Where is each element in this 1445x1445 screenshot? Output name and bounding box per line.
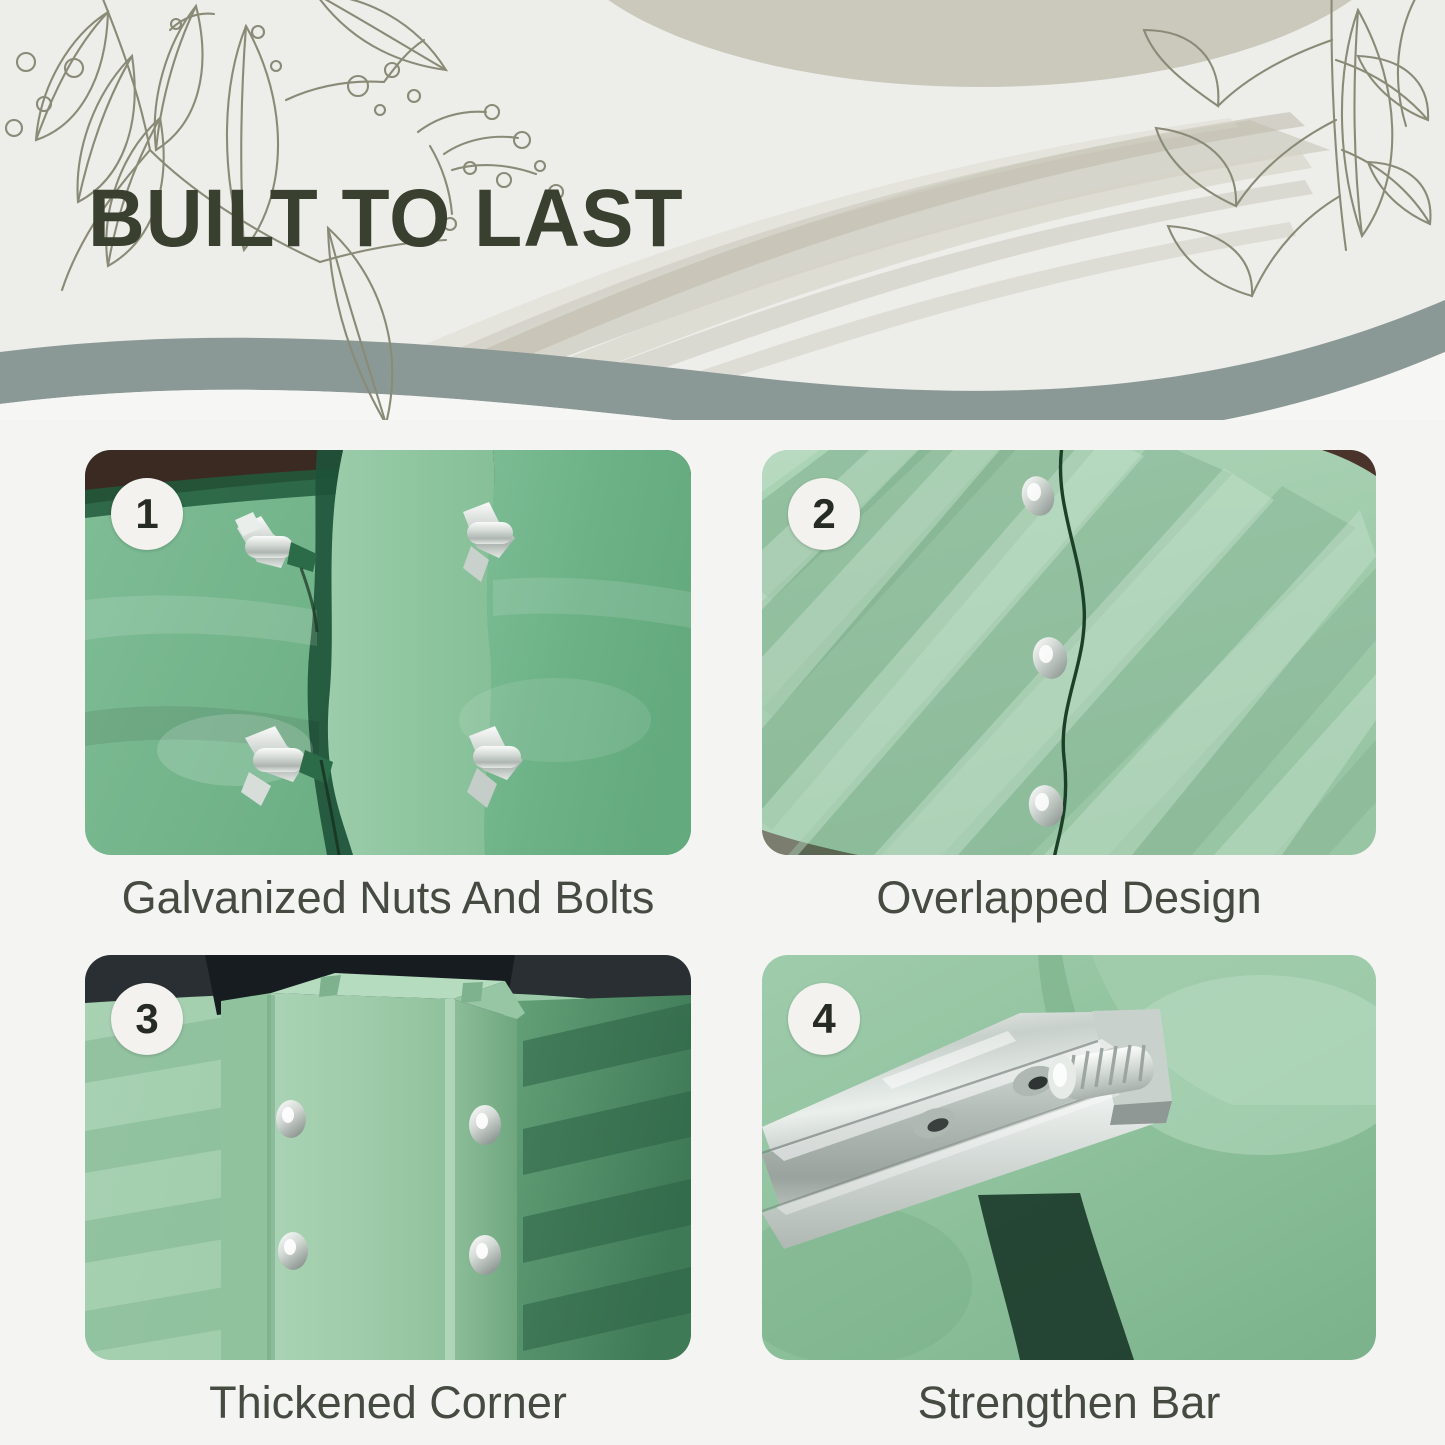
- panel-2-image: 2: [762, 450, 1376, 855]
- rivet-left-upper: [276, 1100, 306, 1138]
- panel-4-caption: Strengthen Bar: [762, 1377, 1376, 1429]
- feature-panel-grid: 1 Galvanized Nuts And Bolts: [0, 420, 1445, 1445]
- panel-3-caption: Thickened Corner: [85, 1377, 691, 1429]
- panel-1-badge: 1: [111, 478, 183, 550]
- panel-4-image: 4: [762, 955, 1376, 1360]
- rivet-right-upper: [469, 1105, 501, 1145]
- header-banner: BUILT TO LAST: [0, 0, 1445, 420]
- panel-1-image: 1: [85, 450, 691, 855]
- panel-2-caption: Overlapped Design: [762, 872, 1376, 924]
- panel-3-badge: 3: [111, 983, 183, 1055]
- panel-1-caption: Galvanized Nuts And Bolts: [85, 872, 691, 924]
- rivet-left-lower: [278, 1232, 308, 1270]
- page-title: BUILT TO LAST: [88, 178, 684, 260]
- rivet-right-lower: [469, 1235, 501, 1275]
- panel-3-image: 3: [85, 955, 691, 1360]
- panel-4-badge: 4: [788, 983, 860, 1055]
- panel-2-badge: 2: [788, 478, 860, 550]
